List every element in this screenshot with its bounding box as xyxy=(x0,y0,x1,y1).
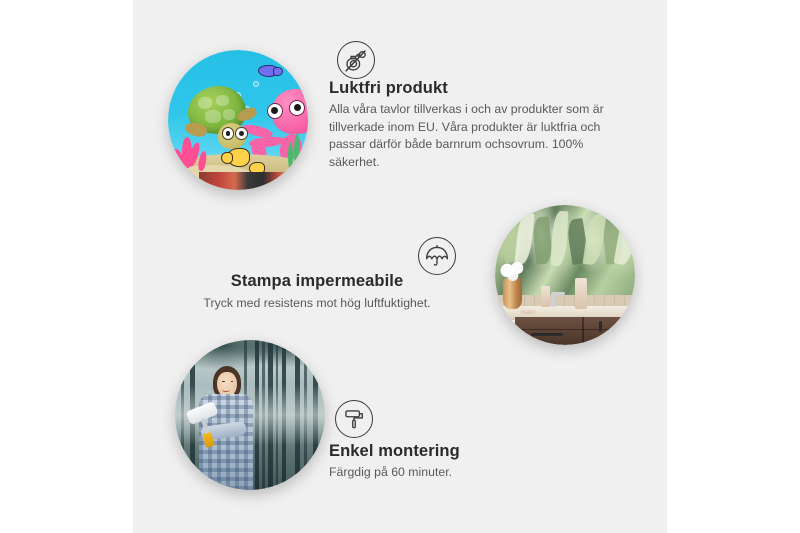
fish-tail-icon xyxy=(221,152,233,164)
soap-dish xyxy=(520,309,535,315)
no-odor-spray-icon xyxy=(337,41,375,79)
forest-installer-circle-image xyxy=(175,340,325,490)
underwater-cartoon-circle-image xyxy=(168,50,308,190)
bathroom-background xyxy=(495,205,635,345)
forest-background xyxy=(175,340,325,490)
vanity-cabinet xyxy=(515,317,635,345)
photo-bottom-strip xyxy=(199,172,289,190)
feature-title-odorless: Luktfri produkt xyxy=(329,79,448,98)
feature-title-waterproof: Stampa impermeabile xyxy=(167,272,467,291)
turtle-eye-icon xyxy=(222,127,235,140)
feature-title-easy-install: Enkel montering xyxy=(329,442,460,461)
octopus-eye-icon xyxy=(267,103,283,119)
screenshot-canvas: Luktfri produkt Alla våra tavlor tillver… xyxy=(0,0,800,533)
seaweed-icon xyxy=(288,142,293,170)
drawer-handle xyxy=(531,333,562,336)
candle-icon xyxy=(541,286,549,307)
person-eye xyxy=(231,381,233,383)
flowers-icon xyxy=(498,258,529,283)
cabinet-handle xyxy=(599,321,602,332)
faucet-spout xyxy=(551,292,565,296)
feature-body-odorless: Alla våra tavlor tillverkas i och av pro… xyxy=(329,101,624,171)
person-eye xyxy=(222,381,224,383)
turtle-eye-icon xyxy=(235,127,248,140)
product-features-panel: Luktfri produkt Alla våra tavlor tillver… xyxy=(133,0,667,533)
feature-body-easy-install: Färgdig på 60 minuter. xyxy=(329,465,452,479)
person-smile xyxy=(222,387,230,391)
bathroom-botanical-circle-image xyxy=(495,205,635,345)
seaweed-icon xyxy=(294,134,300,170)
feature-body-waterproof: Tryck med resistens mot hög luftfuktighe… xyxy=(157,296,477,310)
paint-roller-icon xyxy=(335,400,373,438)
umbrella-icon xyxy=(418,237,456,275)
tree-canopy xyxy=(175,340,325,391)
soap-dispenser xyxy=(575,278,588,309)
